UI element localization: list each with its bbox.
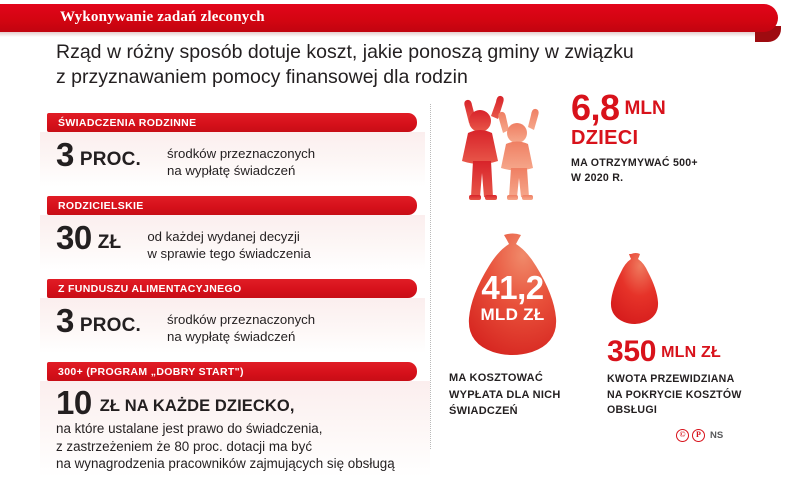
subtitle-line-1: Rząd w różny sposób dotuje koszt, jakie … <box>56 40 756 65</box>
benefit-desc-line-2: na wypłatę świadczeń <box>167 162 315 179</box>
benefit-item-title: RODZICIELSKIE <box>58 200 144 212</box>
benefit-desc-line-1: środków przeznaczonych <box>167 311 315 328</box>
benefit-item-title: ŚWIADCZENIA RODZINNE <box>58 117 196 129</box>
fine-print-line-2: z zastrzeżeniem że 80 proc. dotacji ma b… <box>56 438 430 456</box>
small-bag-value-row: 350MLN ZŁ <box>607 337 805 367</box>
benefit-item-header: Z FUNDUSZU ALIMENTACYJNEGO <box>47 279 417 298</box>
small-bag-caption-line-2: NA POKRYCIE KOSZTÓW <box>607 388 805 404</box>
big-bag-value: 41,2 <box>440 269 585 307</box>
credit-source: NS <box>710 430 723 441</box>
benefit-item-body: 30 ZŁ od każdej wydanej decyzji w sprawi… <box>40 215 425 270</box>
benefit-desc-line-1: środków przeznaczonych <box>167 145 315 162</box>
children-icon <box>443 85 568 205</box>
benefit-item: Z FUNDUSZU ALIMENTACYJNEGO 3 PROC. środk… <box>0 279 425 353</box>
column-divider <box>430 104 431 449</box>
big-money-bag: 41,2 MLD ZŁ <box>440 233 585 358</box>
benefit-item: RODZICIELSKIE 30 ZŁ od każdej wydanej de… <box>0 196 425 270</box>
benefit-value: 3 <box>40 304 74 338</box>
left-column: ŚWIADCZENIA RODZINNE 3 PROC. środków prz… <box>0 113 425 486</box>
small-bag-caption-line-3: OBSŁUGI <box>607 403 805 419</box>
benefit-description: środków przeznaczonych na wypłatę świadc… <box>141 138 315 179</box>
benefit-item-title: 300+ (PROGRAM „DOBRY START") <box>58 366 244 378</box>
small-money-bag-icon <box>603 253 669 325</box>
benefit-value: 30 <box>40 221 92 255</box>
benefit-item-body: 3 PROC. środków przeznaczonych na wypłat… <box>40 132 425 187</box>
benefit-description: środków przeznaczonych na wypłatę świadc… <box>141 304 315 345</box>
banner-shadow <box>0 32 760 37</box>
small-bag-unit: MLN ZŁ <box>656 344 721 362</box>
small-bag-value: 350 <box>607 337 656 367</box>
children-value: 6,8 <box>571 90 620 126</box>
benefit-item-dobry-start: 300+ (PROGRAM „DOBRY START") 10 ZŁ NA KA… <box>0 362 425 477</box>
benefit-item-body: 10 ZŁ NA KAŻDE DZIECKO, na które ustalan… <box>40 381 430 477</box>
benefit-desc-line-2: w sprawie tego świadczenia <box>147 245 310 262</box>
benefit-value: 10 <box>56 386 92 420</box>
benefit-item-title: Z FUNDUSZU ALIMENTACYJNEGO <box>58 283 242 295</box>
benefit-description: od każdej wydanej decyzji w sprawie tego… <box>121 221 310 262</box>
benefit-unit: PROC. <box>74 304 141 337</box>
benefit-fine-print: na które ustalane jest prawo do świadcze… <box>40 420 430 473</box>
children-unit: MLN <box>620 98 666 120</box>
credit-mark: © P NS <box>676 429 723 442</box>
big-bag-unit: MLD ZŁ <box>440 305 585 325</box>
phonogram-icon: P <box>692 429 705 442</box>
children-caption-line-1: MA OTRZYMYWAĆ 500+ <box>571 156 801 171</box>
small-bag-statistic: 350MLN ZŁ KWOTA PRZEWIDZIANA NA POKRYCIE… <box>607 337 805 419</box>
copyright-icon: © <box>676 429 689 442</box>
page-subtitle: Rząd w różny sposób dotuje koszt, jakie … <box>56 40 756 90</box>
benefit-desc-line-2: na wypłatę świadczeń <box>167 328 315 345</box>
small-bag-caption-line-1: KWOTA PRZEWIDZIANA <box>607 372 805 388</box>
small-bag-caption: KWOTA PRZEWIDZIANA NA POKRYCIE KOSZTÓW O… <box>607 372 805 419</box>
benefit-value: 3 <box>40 138 74 172</box>
benefit-item-header: 300+ (PROGRAM „DOBRY START") <box>47 362 417 381</box>
children-statistic: 6,8MLN DZIECI MA OTRZYMYWAĆ 500+ W 2020 … <box>571 90 801 186</box>
benefit-unit: ZŁ <box>92 221 122 254</box>
benefit-value-row: 10 ZŁ NA KAŻDE DZIECKO, <box>40 386 430 420</box>
top-banner: Wykonywanie zadań zleconych <box>0 0 805 34</box>
children-caption-line-2: W 2020 R. <box>571 171 801 186</box>
benefit-item: ŚWIADCZENIA RODZINNE 3 PROC. środków prz… <box>0 113 425 187</box>
benefit-item-header: RODZICIELSKIE <box>47 196 417 215</box>
right-column: 6,8MLN DZIECI MA OTRZYMYWAĆ 500+ W 2020 … <box>435 85 805 465</box>
benefit-unit: PROC. <box>74 138 141 171</box>
benefit-item-header: ŚWIADCZENIA RODZINNE <box>47 113 417 132</box>
children-value-row: 6,8MLN <box>571 90 801 126</box>
benefit-item-body: 3 PROC. środków przeznaczonych na wypłat… <box>40 298 425 353</box>
children-caption: MA OTRZYMYWAĆ 500+ W 2020 R. <box>571 156 801 186</box>
banner-title: Wykonywanie zadań zleconych <box>60 9 265 26</box>
benefit-caption: ZŁ NA KAŻDE DZIECKO, <box>92 386 295 416</box>
benefit-desc-line-1: od każdej wydanej decyzji <box>147 228 310 245</box>
fine-print-line-3: na wynagrodzenia pracowników zajmujących… <box>56 455 430 473</box>
children-subject: DZIECI <box>571 127 801 150</box>
fine-print-line-1: na które ustalane jest prawo do świadcze… <box>56 420 430 438</box>
